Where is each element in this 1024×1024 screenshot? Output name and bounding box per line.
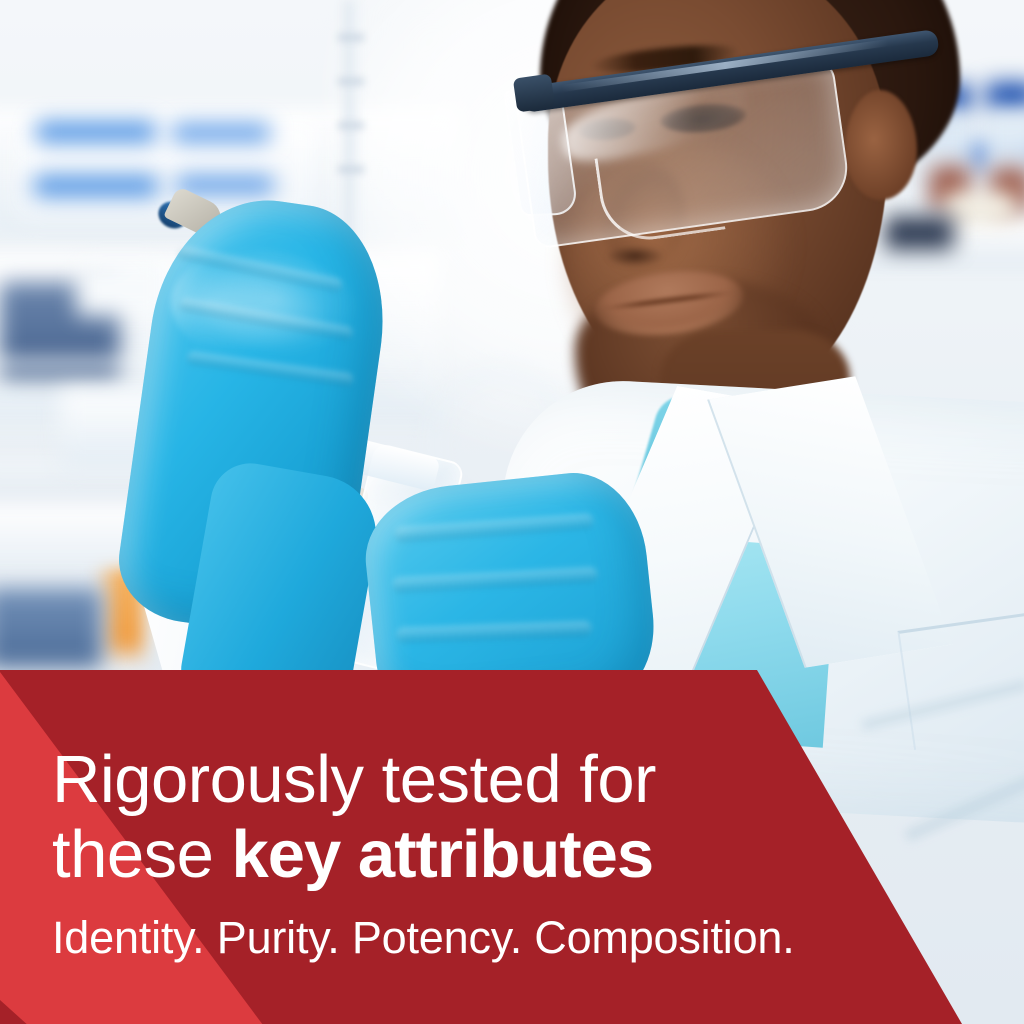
banner-image: Rigorously tested for these key attribut… xyxy=(0,0,1024,1024)
headline-bold-part: key attributes xyxy=(232,817,654,892)
headline-line-1: Rigorously tested for xyxy=(52,742,952,817)
nostril xyxy=(607,246,663,266)
lab-coat-pocket xyxy=(897,610,1024,750)
banner-copy: Rigorously tested for these key attribut… xyxy=(52,742,952,964)
headline-light-part: these xyxy=(52,817,213,892)
goggles-hinge xyxy=(513,74,555,113)
subhead-attributes: Identity. Purity. Potency. Composition. xyxy=(52,912,952,964)
headline-line-2: these key attributes xyxy=(52,817,952,892)
